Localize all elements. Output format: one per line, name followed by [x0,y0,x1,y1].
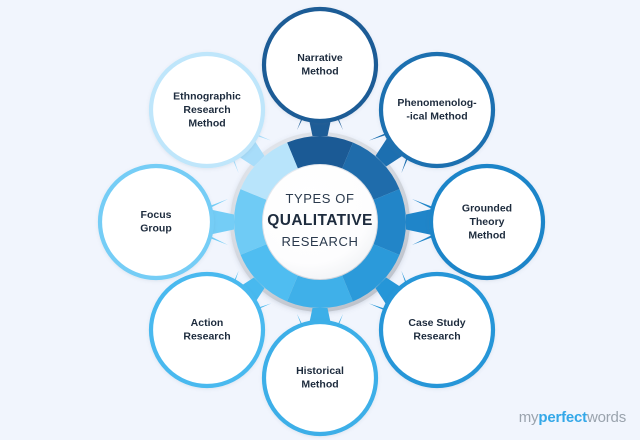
node-grounded-theory-method[interactable]: GroundedTheoryMethod [431,166,543,278]
node-case-study-research[interactable]: Case StudyResearch [381,274,493,386]
brand-words: words [587,409,626,426]
hub-line-2: QUALITATIVE [267,212,372,229]
node-ethnographic-research-method[interactable]: EthnographicResearchMethod [151,54,263,166]
node-label-case-study-research-line-2: Research [413,331,460,343]
node-label-case-study-research-line-1: Case Study [408,317,465,329]
node-label-action-research-line-1: Action [191,317,224,329]
node-label-ethnographic-research-method-line-3: Method [188,117,225,129]
brand-perfect: perfect [538,409,587,426]
node-label-phenomenological-method-line-2: -ical Method [406,111,467,123]
ring-segment-historical-method [287,276,353,308]
node-label-narrative-method-line-2: Method [301,66,338,78]
qualitative-research-diagram: TYPES OF QUALITATIVE RESEARCH NarrativeM… [0,0,640,440]
ring-segment-focus-group [234,189,266,255]
node-action-research[interactable]: ActionResearch [151,274,263,386]
node-label-grounded-theory-method-line-2: Theory [469,216,504,228]
brand-my: my [519,409,539,426]
node-phenomenological-method[interactable]: Phenomenolog--ical Method [381,54,493,166]
node-label-grounded-theory-method-line-1: Grounded [462,202,512,214]
node-narrative-method[interactable]: NarrativeMethod [264,9,376,121]
node-label-action-research-line-2: Research [183,331,230,343]
node-label-historical-method-line-1: Historical [296,365,344,377]
node-label-focus-group-line-1: Focus [141,209,172,221]
node-label-historical-method-line-2: Method [301,379,338,391]
node-label-ethnographic-research-method-line-1: Ethnographic [173,90,241,102]
node-label-ethnographic-research-method-line-2: Research [183,104,230,116]
node-historical-method[interactable]: HistoricalMethod [264,322,376,434]
ring-segment-grounded-theory-method [374,189,406,255]
brand-logo: myperfectwords [519,409,626,426]
node-focus-group[interactable]: FocusGroup [100,166,212,278]
node-label-focus-group-line-2: Group [140,223,172,235]
node-label-grounded-theory-method-line-3: Method [468,229,505,241]
ring-segment-narrative-method [287,136,353,168]
hub-line-1: TYPES OF [285,191,354,206]
hub-line-3: RESEARCH [281,234,358,249]
diagram-canvas: TYPES OF QUALITATIVE RESEARCH NarrativeM… [0,0,640,440]
node-label-phenomenological-method-line-1: Phenomenolog- [397,97,477,109]
node-label-narrative-method-line-1: Narrative [297,52,343,64]
